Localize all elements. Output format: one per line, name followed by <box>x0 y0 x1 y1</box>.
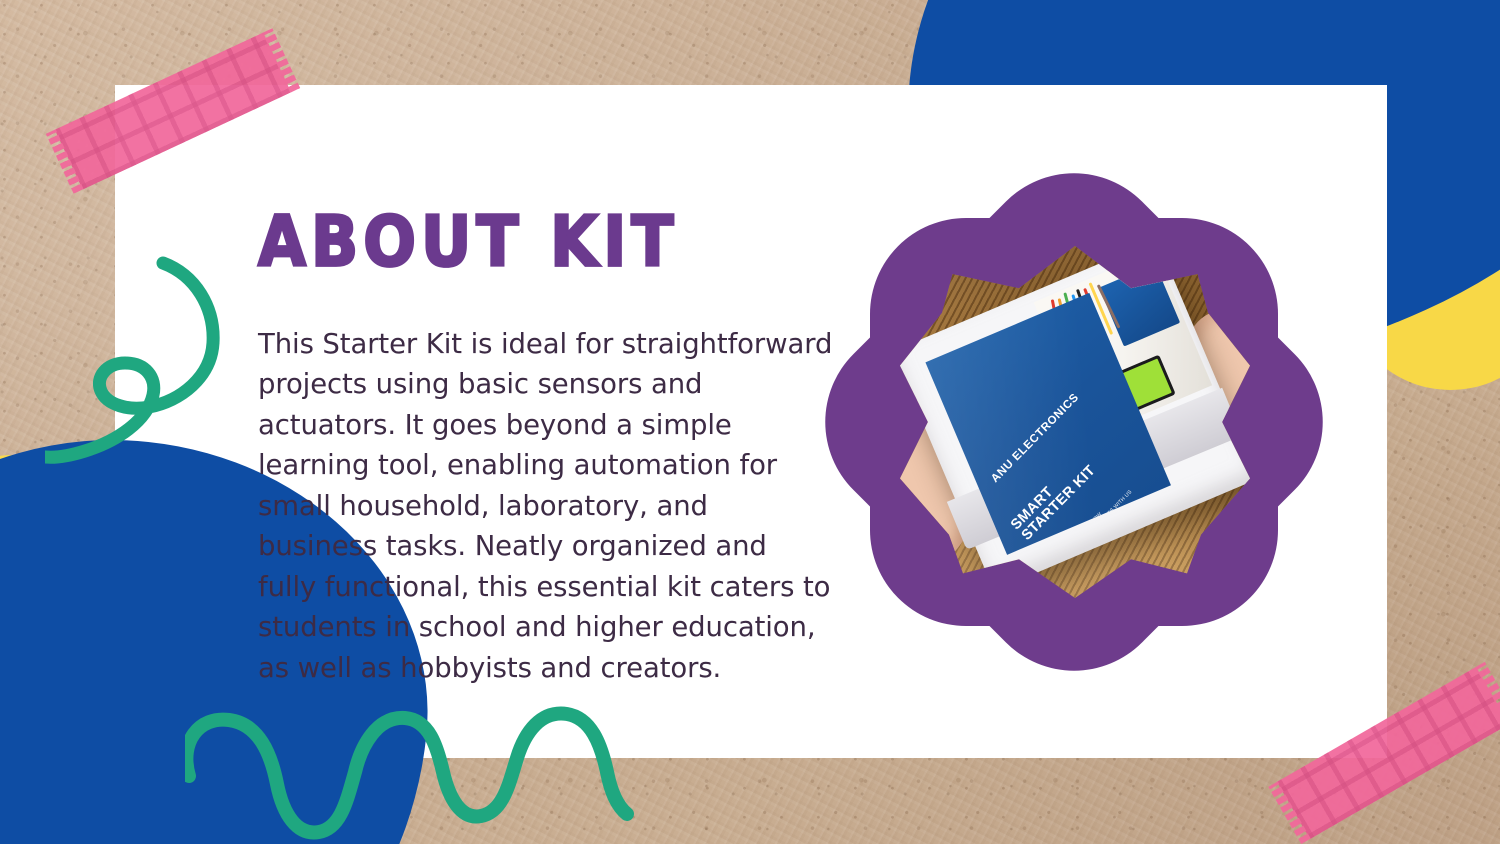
text-column: ABOUT KIT This Starter Kit is ideal for … <box>258 205 838 688</box>
green-loop-doodle <box>45 245 260 475</box>
green-zigzag-doodle <box>185 680 635 840</box>
body-paragraph: This Starter Kit is ideal for straightfo… <box>258 324 833 689</box>
page-title: ABOUT KIT <box>258 205 838 280</box>
slide-canvas: ABOUT KIT This Starter Kit is ideal for … <box>0 0 1500 844</box>
product-photo-block: ANU ELECTRONICS SMART STARTER KIT START … <box>848 196 1300 648</box>
